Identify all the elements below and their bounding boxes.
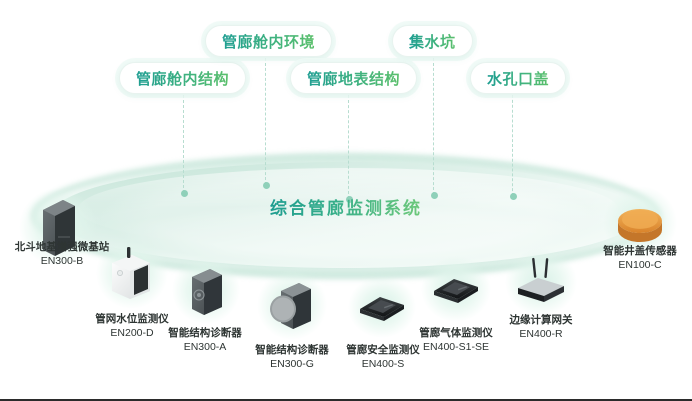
device-name: 边缘计算网关 [471,313,611,327]
device-name: 智能结构诊断器 [135,326,275,340]
router-antenna-icon [512,256,570,313]
category-pill-label: 水孔口盖 [487,68,549,89]
connector-line-sump-pit [433,58,434,195]
flat-sensor-icon-4 [354,287,410,327]
manhole-puck-icon-7 [613,201,667,245]
round-diagnoser-icon-3 [265,277,319,333]
manhole-puck-icon [613,201,667,250]
water-level-device-icon [106,245,158,306]
connector-endpoint-dot [263,182,270,189]
flat-sensor-icon [428,269,484,314]
connector-line-pipe-surface-structure [348,95,349,199]
page-title: 综合管廊监测系统 [0,194,692,219]
water-level-device-icon-1 [106,245,158,301]
device-model: EN400-S [313,357,453,371]
router-antenna-icon-6 [512,256,570,308]
structure-diagnoser-icon-2 [182,261,230,319]
category-pill-manhole-cover[interactable]: 水孔口盖 [470,62,566,94]
category-pill-label: 集水坑 [409,31,456,52]
category-pill-pipe-cabin-environment[interactable]: 管廊舱内环境 [205,25,332,57]
connector-line-manhole-cover [512,95,513,196]
device-caption: 智能井盖传感器EN100-C [570,244,692,272]
device-model: EN100-C [570,258,692,272]
device-model: EN400-S1-SE [386,340,526,354]
device-caption: 边缘计算网关EN400-R [471,313,611,341]
device-model: EN400-R [471,327,611,341]
device-name: 智能井盖传感器 [570,244,692,258]
connector-line-pipe-cabin-structure [183,95,184,193]
center-title-text: 综合管廊监测系统 [270,199,422,218]
category-pill-pipe-cabin-structure[interactable]: 管廊舱内结构 [119,62,246,94]
category-pill-pipe-surface-structure[interactable]: 管廊地表结构 [290,62,417,94]
flat-sensor-icon-5 [428,269,484,309]
structure-diagnoser-icon [182,261,230,324]
category-pill-label: 管廊地表结构 [307,68,400,89]
connector-line-pipe-cabin-environment [265,58,266,185]
category-pill-label: 管廊舱内结构 [136,68,229,89]
round-diagnoser-icon [265,277,319,338]
diagram-canvas: 综合管廊监测系统 管廊舱内结构管廊舱内环境管廊地表结构集水坑水孔口盖 北斗地基增… [0,0,692,401]
category-pill-label: 管廊舱内环境 [222,31,315,52]
category-pill-sump-pit[interactable]: 集水坑 [392,25,473,57]
